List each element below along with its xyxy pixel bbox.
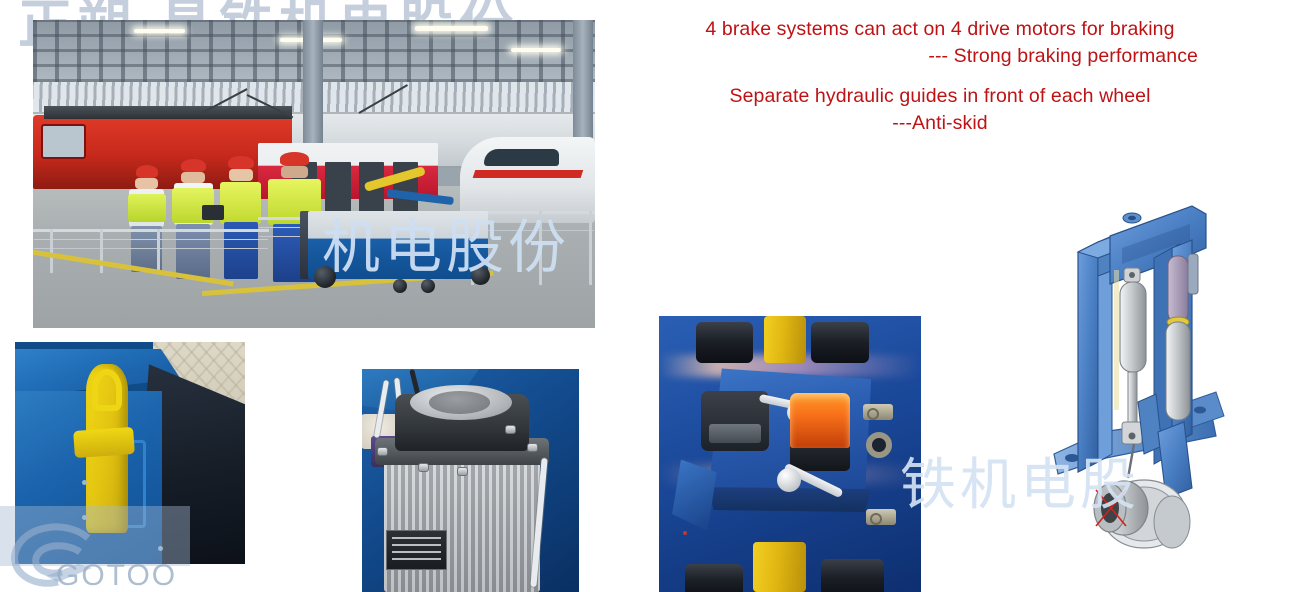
ceiling-lamp-icon — [511, 48, 562, 52]
display-window — [709, 424, 761, 443]
railing-post — [157, 229, 160, 272]
bolt-icon — [377, 447, 388, 456]
headline-text-block: 4 brake systems can act on 4 drive motor… — [630, 16, 1250, 137]
handheld-device — [202, 205, 224, 220]
hook-eye — [92, 369, 122, 411]
guide-roller-black — [811, 322, 869, 363]
railing-post — [50, 229, 53, 272]
hard-hat-icon — [181, 159, 205, 173]
worker-figure — [174, 159, 213, 282]
guide-roller-black — [821, 559, 884, 592]
photo-control-panel — [659, 316, 921, 592]
guide-roller-black — [696, 322, 754, 363]
mounting-clip — [863, 404, 893, 420]
photo-rail-depot — [33, 20, 595, 328]
worker-head — [181, 172, 205, 183]
orange-beacon-light[interactable] — [790, 393, 850, 448]
photo-drive-motor — [362, 369, 579, 592]
railing-post — [539, 211, 542, 285]
brake-cap-center — [429, 391, 490, 413]
gotoo-logo: GOTOO — [0, 506, 200, 592]
railing-post — [100, 229, 103, 272]
indicator-dot — [683, 531, 687, 535]
worker-head — [281, 166, 308, 178]
worker-head — [229, 169, 253, 180]
mounting-clip — [866, 509, 896, 525]
safety-vest — [220, 182, 261, 224]
bolt-icon — [457, 467, 468, 476]
train-windshield — [484, 149, 558, 166]
guide-roller-black — [685, 564, 743, 592]
hook-latch — [73, 427, 135, 458]
cad-hydraulic-guide-assembly — [1040, 196, 1280, 572]
headline-line-2: --- Strong braking performance — [630, 43, 1250, 70]
headline-line-4: ---Anti-skid — [630, 110, 1250, 137]
guide-roller-yellow — [753, 542, 805, 592]
lever-knob[interactable] — [777, 468, 801, 492]
hard-hat-icon — [228, 156, 253, 170]
headline-line-1: 4 brake systems can act on 4 drive motor… — [630, 16, 1250, 43]
locomotive-roof — [44, 106, 291, 118]
safety-vest — [128, 194, 166, 223]
worker-figure — [221, 156, 260, 282]
hard-hat-icon — [280, 152, 309, 165]
slide-canvas: 正朔 昌铁机电股份 — [0, 0, 1315, 592]
vehicle-wheel — [421, 279, 435, 293]
vehicle-wheel — [393, 279, 407, 293]
headline-line-3: Separate hydraulic guides in front of ea… — [630, 83, 1250, 110]
ceiling-lamp-icon — [134, 29, 185, 33]
platform-railing — [33, 229, 269, 232]
bolt-icon — [527, 443, 538, 452]
ceiling-lamp-icon — [415, 26, 488, 31]
guide-roller-yellow — [764, 316, 806, 363]
bolt-icon — [418, 463, 429, 472]
motor-nameplate — [386, 530, 447, 570]
cad-lilac-cylinder — [1166, 254, 1198, 420]
bolt-icon — [82, 480, 87, 485]
shunting-vehicle — [308, 211, 488, 279]
hard-hat-icon — [136, 165, 158, 178]
bolt-icon — [505, 425, 516, 434]
cable-ring — [866, 432, 892, 458]
railing-post — [589, 211, 592, 285]
gotoo-logo-text: GOTOO — [56, 559, 177, 592]
worker-head — [135, 178, 158, 189]
